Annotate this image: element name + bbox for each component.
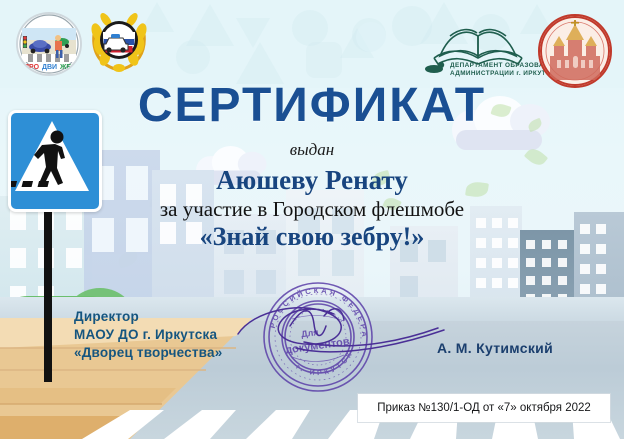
director-role-line1: Директор [74,308,222,326]
handwritten-signature [230,290,460,376]
certificate-canvas: ПРО ДВИ ЖЕ [0,0,624,439]
participation-reason: за участие в Городском флешмобе [0,197,624,222]
awarded-word: выдан [0,140,624,160]
department-line1: ДЕПАРТАМЕНТ ОБРАЗОВАНИЯ [450,62,544,69]
director-role-line2: МАОУ ДО г. Иркутска [74,326,222,344]
order-note-text: Приказ №130/1-ОД от «7» октября 2022 [377,402,591,414]
recipient-name: Аюшеву Ренату [0,165,624,196]
cathedral-emblem [538,14,612,88]
director-block: Директор МАОУ ДО г. Иркутска «Дворец тво… [74,308,222,361]
order-note-box: Приказ №130/1-ОД от «7» октября 2022 [358,394,610,422]
department-line2: АДМИНИСТРАЦИИ г. ИРКУТСКА [450,70,544,77]
svg-text:ДВИ: ДВИ [42,64,57,71]
gibdd-logo [88,10,150,74]
department-education-logo: ДЕПАРТАМЕНТ ОБРАЗОВАНИЯ АДМИНИСТРАЦИИ г.… [420,22,544,80]
event-title: «Знай свою зебру!» [0,222,624,252]
director-role-line3: «Дворец творчества» [74,344,222,362]
certificate-title: СЕРТИФИКАТ [0,78,624,133]
prodvizhenie-logo: ПРО ДВИ ЖЕ [16,12,82,76]
